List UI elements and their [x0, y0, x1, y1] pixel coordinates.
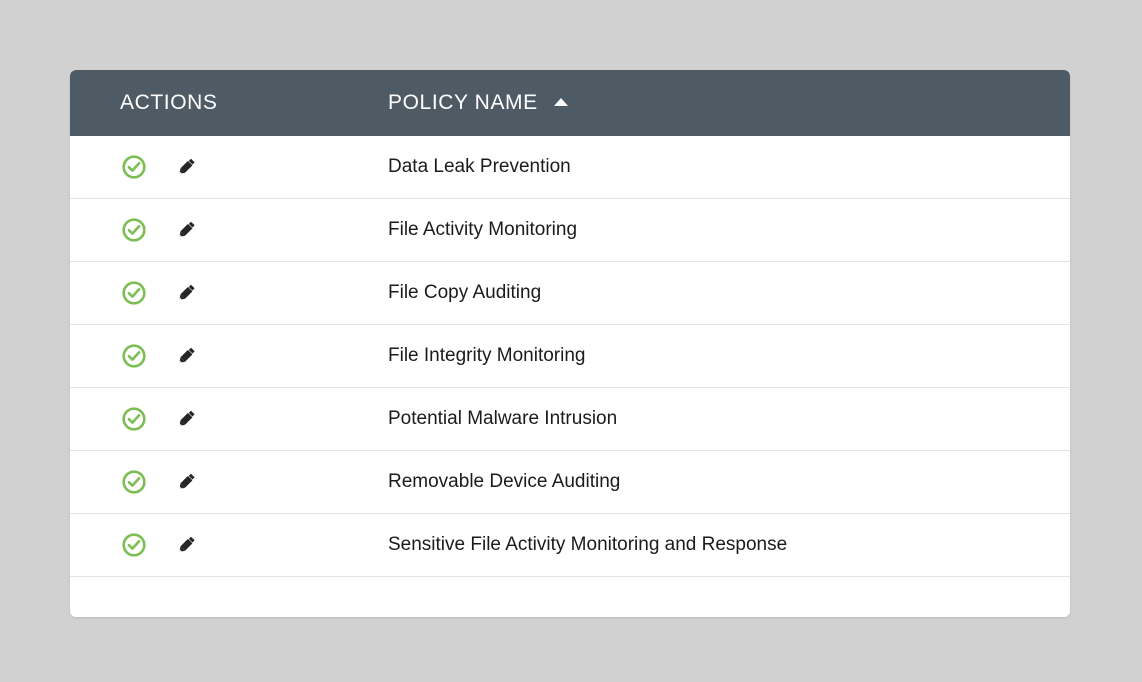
- policy-name-cell: Sensitive File Activity Monitoring and R…: [340, 534, 1070, 557]
- pencil-edit-icon[interactable]: [174, 344, 198, 368]
- table-row[interactable]: Removable Device Auditing: [70, 450, 1070, 513]
- policy-name-cell: File Activity Monitoring: [340, 219, 1070, 242]
- pencil-edit-icon[interactable]: [174, 407, 198, 431]
- row-actions-cell: [70, 468, 340, 496]
- pencil-edit-icon[interactable]: [174, 281, 198, 305]
- table-header-row: ACTIONS POLICY NAME: [70, 70, 1070, 136]
- pencil-edit-icon[interactable]: [174, 155, 198, 179]
- table-row[interactable]: File Integrity Monitoring: [70, 324, 1070, 387]
- row-actions-cell: [70, 342, 340, 370]
- check-circle-icon[interactable]: [120, 342, 148, 370]
- triangle-up-icon[interactable]: [554, 98, 568, 106]
- check-circle-icon[interactable]: [120, 405, 148, 433]
- policy-name-cell: Potential Malware Intrusion: [340, 408, 1070, 431]
- pencil-edit-icon[interactable]: [174, 533, 198, 557]
- pencil-edit-icon[interactable]: [174, 218, 198, 242]
- row-actions-cell: [70, 216, 340, 244]
- row-actions-cell: [70, 153, 340, 181]
- policy-name-cell: Data Leak Prevention: [340, 156, 1070, 179]
- column-header-policy-name-label: POLICY NAME: [388, 91, 538, 115]
- policy-name-cell: File Copy Auditing: [340, 282, 1070, 305]
- check-circle-icon[interactable]: [120, 153, 148, 181]
- check-circle-icon[interactable]: [120, 279, 148, 307]
- table-row[interactable]: Data Leak Prevention: [70, 136, 1070, 198]
- column-header-actions[interactable]: ACTIONS: [70, 91, 340, 115]
- table-row[interactable]: Potential Malware Intrusion: [70, 387, 1070, 450]
- page-root: ACTIONS POLICY NAME: [0, 0, 1142, 682]
- row-actions-cell: [70, 279, 340, 307]
- check-circle-icon[interactable]: [120, 531, 148, 559]
- pencil-edit-icon[interactable]: [174, 470, 198, 494]
- table-footer: [70, 576, 1070, 617]
- column-header-policy-name[interactable]: POLICY NAME: [340, 91, 1070, 115]
- row-actions-cell: [70, 405, 340, 433]
- check-circle-icon[interactable]: [120, 468, 148, 496]
- check-circle-icon[interactable]: [120, 216, 148, 244]
- row-actions-cell: [70, 531, 340, 559]
- table-row[interactable]: File Copy Auditing: [70, 261, 1070, 324]
- table-row[interactable]: File Activity Monitoring: [70, 198, 1070, 261]
- policy-table-card: ACTIONS POLICY NAME: [70, 70, 1070, 617]
- table-body: Data Leak Prevention: [70, 136, 1070, 576]
- policy-name-cell: File Integrity Monitoring: [340, 345, 1070, 368]
- policy-name-cell: Removable Device Auditing: [340, 471, 1070, 494]
- table-row[interactable]: Sensitive File Activity Monitoring and R…: [70, 513, 1070, 576]
